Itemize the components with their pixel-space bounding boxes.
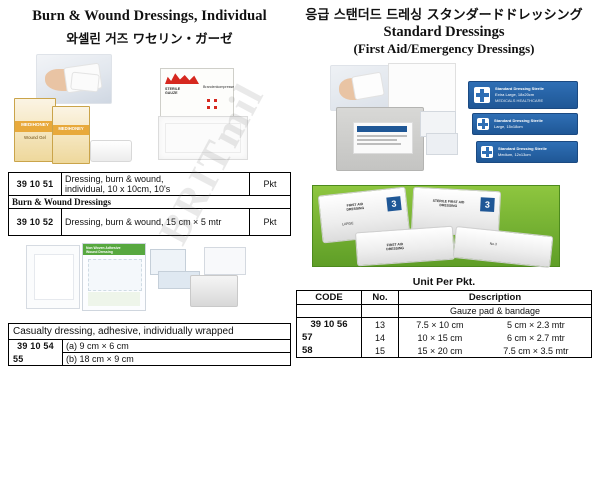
- cell-bandage: 5 cm × 2.3 mtr: [481, 318, 592, 332]
- table-burn-wound-individual: 39 10 51 Dressing, burn & wound, individ…: [8, 172, 291, 196]
- photo-foil-pack: [190, 275, 238, 307]
- blue-label-3-line1: Standard Dressing Sterile: [498, 146, 547, 151]
- medihoney-sub-1: Wound Gel: [15, 135, 55, 141]
- cell-gauze: 7.5 × 10 cm: [399, 318, 481, 332]
- catalog-page: Burn & Wound Dressings, Individual 와셀린 거…: [0, 0, 600, 479]
- photo-white-folded-dressing: [158, 116, 248, 160]
- cell-description: (b) 18 cm × 9 cm: [63, 353, 291, 366]
- right-product-photos-rolls: FIRST AID DRESSING LARGE 3 STERILE FIRST…: [296, 185, 592, 270]
- cell-bandage: 6 cm × 2.7 mtr: [481, 331, 592, 344]
- medihoney-brand-2: MEDIHONEY: [53, 126, 89, 132]
- roll-3-label: FIRST AID DRESSING: [365, 241, 425, 253]
- roll-1-size: LARGE: [328, 220, 368, 228]
- photo-hand-gauze: [36, 54, 112, 104]
- cell-code: 39 10 52: [9, 209, 62, 236]
- photo-grey-dressing-pack: [336, 107, 424, 171]
- unit-per-pkt-label: Unit Per Pkt.: [296, 276, 592, 288]
- desc-line-2: individual, 10 x 10cm, 10's: [65, 184, 246, 194]
- photo-blue-box-extra-large: Standard Dressing Sterile Extra Large, 1…: [468, 81, 578, 109]
- medihoney-brand-1: MEDIHONEY: [15, 122, 55, 128]
- table-burn-wound-roll: 39 10 52 Dressing, burn & wound, 15 cm ×…: [8, 208, 291, 236]
- blue-label-1-line2: Extra Large, 18x20cm: [495, 92, 534, 97]
- photo-pack-small: [204, 247, 246, 275]
- right-title-korean-japanese: 응급 스탠더드 드레싱 スタンダードドレッシング: [296, 8, 592, 24]
- photo-small-packet-2: [426, 133, 458, 155]
- table-standard-dressings: CODE No. Description Gauze pad & bandage…: [296, 290, 592, 358]
- table-row: 57 14 10 × 15 cm 6 cm × 2.7 mtr: [297, 331, 592, 344]
- blue-label-2-line1: Standard Dressing Sterile: [494, 118, 543, 123]
- table-subheader-row: Gauze pad & bandage: [297, 305, 592, 318]
- photo-non-woven-adhesive-dressing: Non Woven Adhesive Wound Dressing: [82, 243, 146, 311]
- cell-code: 58: [297, 344, 362, 358]
- cell-code: 57: [297, 331, 362, 344]
- cell-no: 14: [362, 331, 399, 344]
- nwad-title: Non Woven Adhesive Wound Dressing: [86, 246, 120, 254]
- left-casualty-photos: Non Woven Adhesive Wound Dressing: [8, 241, 291, 323]
- left-column: Burn & Wound Dressings, Individual 와셀린 거…: [8, 8, 291, 366]
- table-header-row: CODE No. Description: [297, 291, 592, 305]
- table-row: 39 10 52 Dressing, burn & wound, 15 cm ×…: [9, 209, 291, 236]
- table-section-burn-wound-dressings: Burn & Wound Dressings: [8, 195, 291, 209]
- roll-2-number: 3: [480, 197, 495, 212]
- roll-2-label: STERILE FIRST AID DRESSING: [419, 198, 477, 209]
- section-header-label: Burn & Wound Dressings: [9, 196, 291, 209]
- cell-unit: Pkt: [250, 209, 291, 236]
- roll-4-size: No.3: [463, 239, 523, 249]
- packet-brand: STERILE GAUZE: [165, 87, 199, 96]
- table-row: 39 10 54 (a) 9 cm × 6 cm: [9, 340, 291, 353]
- casualty-header-label: Casualty dressing, adhesive, individuall…: [9, 324, 291, 340]
- packet-side-text: Brandenkompresse: [203, 85, 231, 89]
- cell-gauze: 10 × 15 cm: [399, 331, 481, 344]
- col-description: Description: [399, 291, 592, 305]
- cell-description: Dressing, burn & wound, individual, 10 x…: [62, 173, 250, 196]
- col-no: No.: [362, 291, 399, 305]
- desc-line-1: Dressing, burn & wound,: [65, 174, 246, 184]
- roll-1-number: 3: [386, 196, 401, 211]
- photo-roll-3: FIRST AID DRESSING: [355, 226, 455, 267]
- left-title: Burn & Wound Dressings, Individual: [8, 8, 291, 25]
- left-subtitle-korean-japanese: 와셀린 거즈 ワセリン・ガーゼ: [8, 28, 291, 47]
- right-product-photos-top: Standard Dressing Sterile Extra Large, 1…: [296, 63, 592, 181]
- cell-code: 55: [9, 353, 63, 366]
- cell-no: 15: [362, 344, 399, 358]
- photo-blue-box-large: Standard Dressing Sterile Large, 15x18cm: [472, 113, 578, 135]
- photo-bandaged-hand: [330, 65, 390, 111]
- cell-unit: Pkt: [250, 173, 291, 196]
- table-row: 39 10 56 13 7.5 × 10 cm 5 cm × 2.3 mtr: [297, 318, 592, 332]
- cell-gauze: 15 × 20 cm: [399, 344, 481, 358]
- cell-code: 39 10 56: [297, 318, 362, 332]
- cell-bandage: 7.5 cm × 3.5 mtr: [481, 344, 592, 358]
- cell-code: 39 10 54: [9, 340, 63, 353]
- blue-label-3-line2: Medium, 12x13cm: [498, 152, 531, 157]
- blue-label-1-line1: Standard Dressing Sterile: [495, 86, 544, 91]
- blue-label-1-line3: MEDICALS HEALTHCARE: [495, 98, 543, 103]
- photo-medihoney-box-1: MEDIHONEY Wound Gel: [14, 98, 56, 162]
- right-title-sub: (First Aid/Emergency Dressings): [296, 41, 592, 57]
- table-row: 55 (b) 18 cm × 9 cm: [9, 353, 291, 366]
- cell-code: 39 10 51: [9, 173, 62, 196]
- right-column: 응급 스탠더드 드레싱 スタンダードドレッシング Standard Dressi…: [296, 8, 592, 358]
- blue-label-2-line2: Large, 15x18cm: [494, 124, 523, 129]
- left-product-photos: MEDIHONEY Wound Gel MEDIHONEY STERILE GA…: [8, 54, 291, 172]
- col-code: CODE: [297, 291, 362, 305]
- photo-honey-tube: [90, 140, 132, 162]
- right-title-en: Standard Dressings: [296, 24, 592, 41]
- photo-blue-box-medium: Standard Dressing Sterile Medium, 12x13c…: [476, 141, 578, 163]
- desc-sub-header: Gauze pad & bandage: [399, 305, 592, 318]
- photo-medihoney-box-2: MEDIHONEY: [52, 106, 90, 164]
- cell-description: (a) 9 cm × 6 cm: [63, 340, 291, 353]
- table-row: 58 15 15 × 20 cm 7.5 cm × 3.5 mtr: [297, 344, 592, 358]
- table-row: 39 10 51 Dressing, burn & wound, individ…: [9, 173, 291, 196]
- roll-1-label: FIRST AID DRESSING: [326, 200, 385, 214]
- photo-casualty-dressing-pack: [26, 245, 80, 309]
- cell-description: Dressing, burn & wound, 15 cm × 5 mtr: [62, 209, 250, 236]
- table-row: Burn & Wound Dressings: [9, 196, 291, 209]
- cell-no: 13: [362, 318, 399, 332]
- table-row-header: Casualty dressing, adhesive, individuall…: [9, 324, 291, 340]
- table-casualty-dressing: Casualty dressing, adhesive, individuall…: [8, 323, 291, 366]
- photo-burn-packet: STERILE GAUZE Brandenkompresse: [160, 68, 234, 120]
